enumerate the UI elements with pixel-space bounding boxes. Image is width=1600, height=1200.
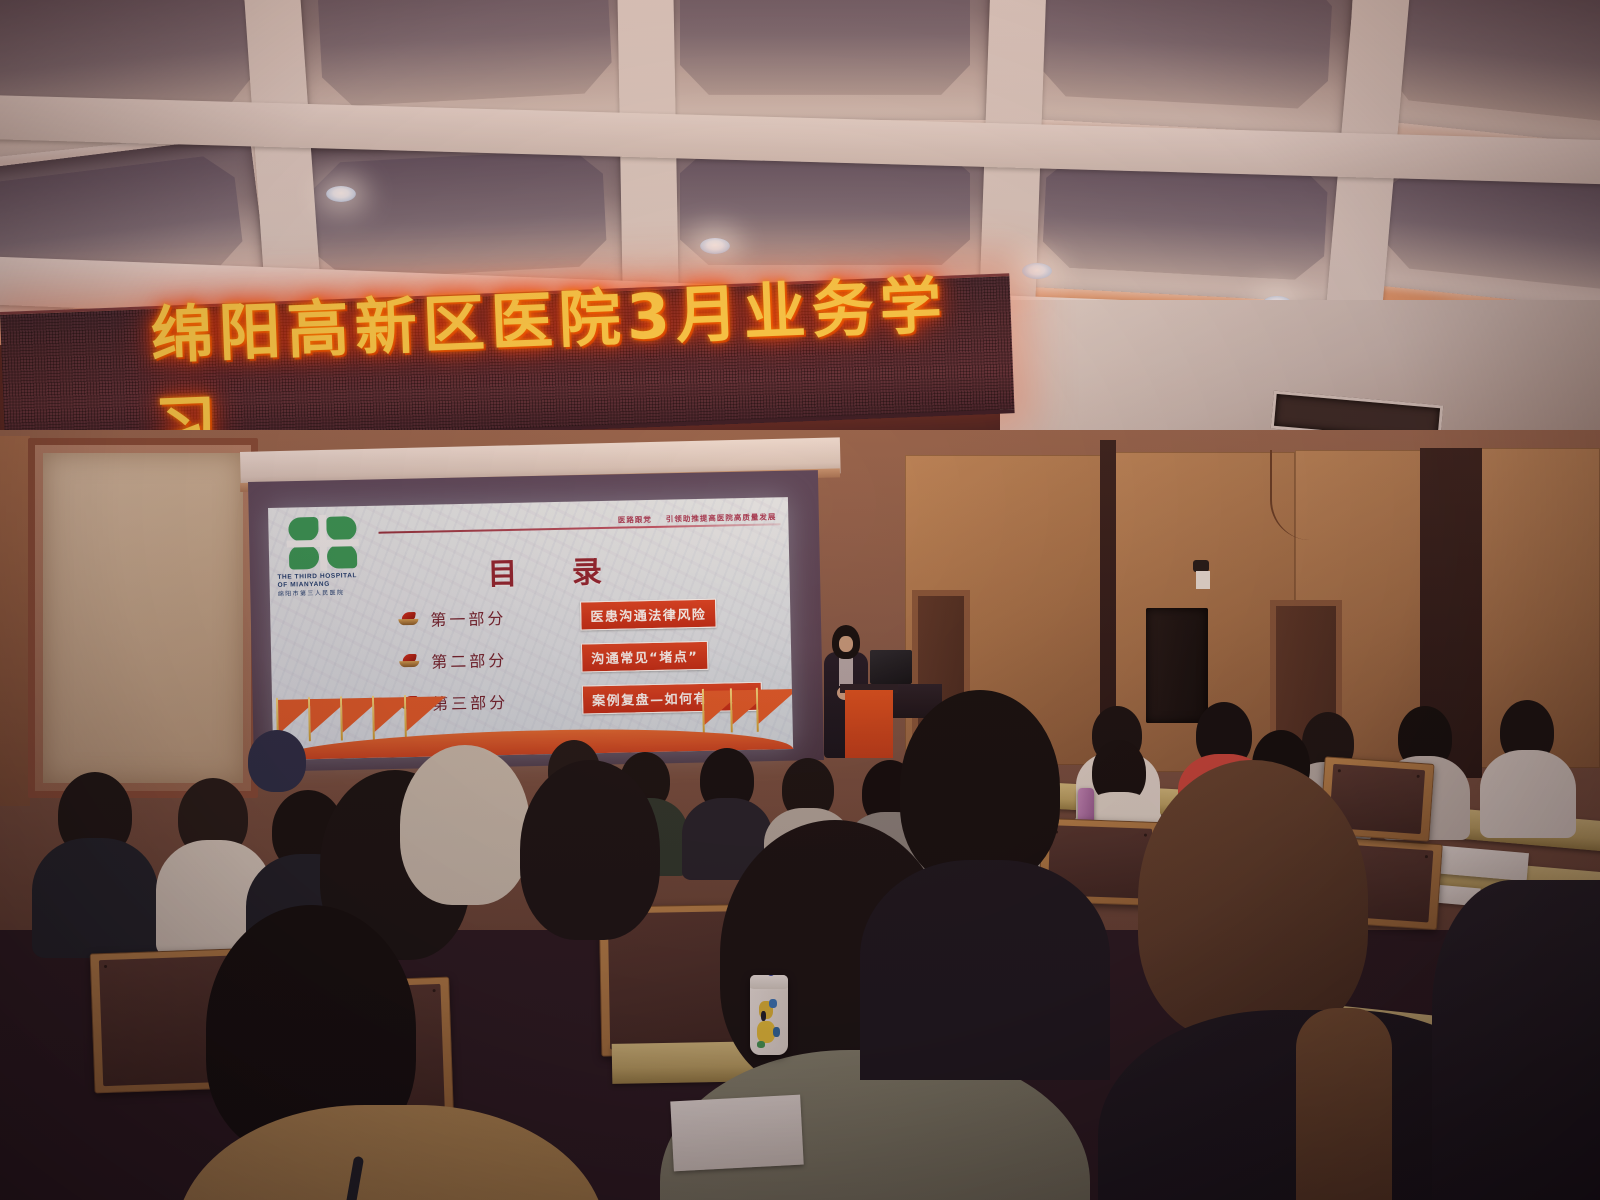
slide-headline-right: 引领助推提高医院高质量发展 xyxy=(666,511,777,524)
podium-monitor xyxy=(870,650,912,684)
auditorium-photo: 绵阳高新区医院3月业务学习 THE THIRD HOSPITAL OF MIAN… xyxy=(0,0,1600,1200)
hospital-logo: THE THIRD HOSPITAL OF MIANYANG 绵阳市第三人民医院 xyxy=(276,514,372,598)
ceiling-coffer xyxy=(660,0,990,120)
logo-english: THE THIRD HOSPITAL OF MIANYANG xyxy=(277,572,357,589)
slide-headline-left: 医路跟党 xyxy=(618,514,652,526)
slide-divider xyxy=(379,523,781,533)
podium xyxy=(845,690,893,758)
toc-chip: 沟通常见“堵点” xyxy=(581,640,709,672)
toc-part-label: 第二部分 xyxy=(431,646,549,672)
toc-item: 第二部分 沟通常见“堵点” xyxy=(399,635,780,679)
led-banner: 绵阳高新区医院3月业务学习 xyxy=(0,273,1015,452)
left-wall-panel xyxy=(28,438,258,798)
green-cross-icon xyxy=(286,514,359,571)
paper-cup xyxy=(750,975,788,1055)
party-boat-icon xyxy=(399,655,419,667)
ceiling-downlight xyxy=(326,186,356,202)
ceiling-downlight xyxy=(700,238,730,254)
toc-item: 第一部分 医患沟通法律风险 xyxy=(398,593,779,637)
presentation-slide: THE THIRD HOSPITAL OF MIANYANG 绵阳市第三人民医院… xyxy=(268,497,793,760)
security-camera xyxy=(1193,560,1209,572)
toc-part-label: 第一部分 xyxy=(430,604,548,630)
logo-chinese: 绵阳市第三人民医院 xyxy=(278,587,345,597)
frosted-glass-panel xyxy=(43,453,243,783)
cup-artwork xyxy=(755,997,783,1049)
notebook xyxy=(670,1095,803,1172)
left-wall-strip xyxy=(0,436,30,806)
wall-speaker xyxy=(1146,608,1208,723)
ceiling-coffer xyxy=(1016,0,1355,136)
party-boat-icon xyxy=(398,613,418,625)
slide-title: 目 录 xyxy=(487,547,624,594)
led-banner-text: 绵阳高新区医院3月业务学习 xyxy=(151,292,1014,425)
slide-flags-graphic xyxy=(272,683,793,760)
toc-chip: 医患沟通法律风险 xyxy=(580,598,717,630)
